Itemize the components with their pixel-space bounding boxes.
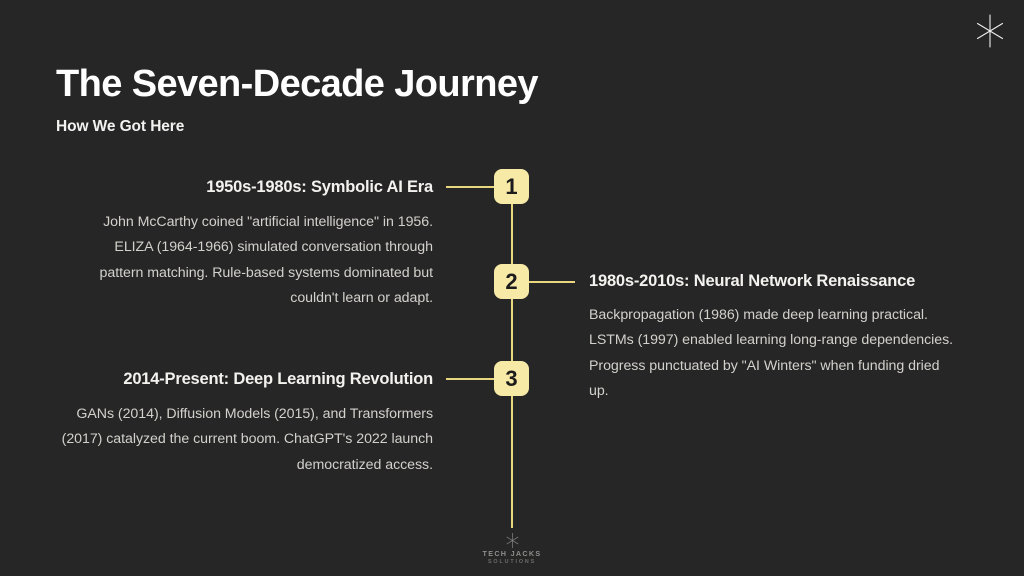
timeline-entry-3: 2014-Present: Deep Learning Revolution G… xyxy=(50,368,433,478)
footer-logo: TECH JACKS SOLUTIONS xyxy=(0,532,1024,566)
timeline-connector-3 xyxy=(446,378,496,380)
timeline-entry-3-body: GANs (2014), Diffusion Models (2015), an… xyxy=(50,402,433,478)
timeline-entry-2: 1980s-2010s: Neural Network Renaissance … xyxy=(589,270,955,404)
sparkle-star-icon xyxy=(504,532,521,549)
footer-brand-name: TECH JACKS xyxy=(483,550,542,557)
timeline-badge-3[interactable]: 3 xyxy=(494,361,529,396)
sparkle-star-icon xyxy=(970,11,1010,51)
timeline-connector-1 xyxy=(446,186,496,188)
timeline-entry-2-title: 1980s-2010s: Neural Network Renaissance xyxy=(589,270,955,292)
slide-root: The Seven-Decade Journey How We Got Here… xyxy=(0,0,1024,576)
footer-tagline: SOLUTIONS xyxy=(488,560,536,565)
timeline-badge-1[interactable]: 1 xyxy=(494,169,529,204)
page-title: The Seven-Decade Journey xyxy=(56,62,538,106)
timeline-entry-2-body: Backpropagation (1986) made deep learnin… xyxy=(589,303,955,404)
timeline-badge-2[interactable]: 2 xyxy=(494,264,529,299)
timeline-entry-1-title: 1950s-1980s: Symbolic AI Era xyxy=(76,176,433,198)
timeline-spine xyxy=(511,186,513,528)
timeline-entry-1: 1950s-1980s: Symbolic AI Era John McCart… xyxy=(76,176,433,311)
timeline-connector-2 xyxy=(527,281,575,283)
timeline-entry-3-title: 2014-Present: Deep Learning Revolution xyxy=(50,368,433,390)
page-subtitle: How We Got Here xyxy=(56,118,538,136)
slide-header: The Seven-Decade Journey How We Got Here xyxy=(56,62,538,136)
timeline-entry-1-body: John McCarthy coined "artificial intelli… xyxy=(76,210,433,311)
